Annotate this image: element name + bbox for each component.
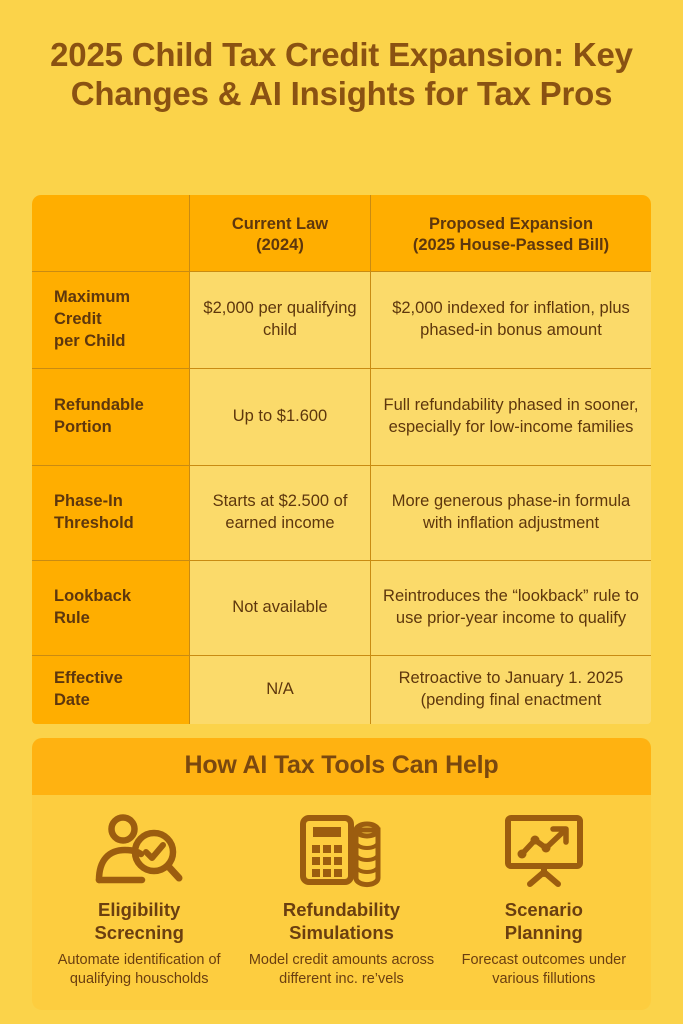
row-label-maximum-credit: Maximum Credit per Child	[32, 272, 190, 368]
cell-proposed-maximum-credit: $2,000 indexed for inflation, plus phase…	[371, 272, 651, 368]
cell-proposed-lookback-rule: Reintroduces the “lookback” rule to use …	[371, 561, 651, 655]
comparison-table: Current Law (2024) Proposed Expansion (2…	[32, 195, 651, 724]
row-label-line3: per Child	[54, 331, 130, 353]
table-row: Effective Date N/A Retroactive to Januar…	[32, 656, 651, 724]
row-label-phase-in-threshold: Phase-In Threshold	[32, 466, 190, 560]
row-label-line1: Effective	[54, 668, 123, 690]
presentation-chart-icon	[449, 813, 639, 889]
header-cell-current-law: Current Law (2024)	[190, 195, 371, 271]
ai-feature-title-line2: Screcning	[44, 922, 234, 945]
ai-feature-refundability-simulations: Refundability Simulations Model credit a…	[240, 813, 442, 988]
row-label-line1: Phase-In	[54, 491, 134, 513]
ai-feature-title-line2: Simulations	[246, 922, 436, 945]
ai-feature-title: Eligibility Screcning	[44, 899, 234, 944]
cell-proposed-phase-in-threshold: More generous phase-in formula with infl…	[371, 466, 651, 560]
ai-feature-title-line1: Refundability	[246, 899, 436, 922]
ai-tools-heading: How AI Tax Tools Can Help	[32, 738, 651, 795]
ai-feature-description: Forecast outcomes under various fillutio…	[449, 951, 639, 988]
ai-tools-body: Eligibility Screcning Automate identific…	[32, 795, 651, 1010]
cell-current-maximum-credit: $2,000 per qualifying child	[190, 272, 371, 368]
calculator-coins-icon	[246, 813, 436, 889]
row-label-refundable-portion: Refundable Portion	[32, 369, 190, 465]
header-current-line1: Current Law	[232, 214, 328, 235]
row-label-line1: Refundable	[54, 395, 144, 417]
ai-feature-scenario-planning: Scenario Planning Forecast outcomes unde…	[443, 813, 645, 988]
row-label-line2: Portion	[54, 417, 144, 439]
ai-feature-description: Model credit amounts across different in…	[246, 951, 436, 988]
table-row: Phase-In Threshold Starts at $2.500 of e…	[32, 466, 651, 561]
cell-current-refundable-portion: Up to $1.600	[190, 369, 371, 465]
row-label-effective-date: Effective Date	[32, 656, 190, 724]
table-header-row: Current Law (2024) Proposed Expansion (2…	[32, 195, 651, 272]
row-label-line1: Maximum	[54, 287, 130, 309]
ai-feature-description: Automate identification of qualifying ho…	[44, 951, 234, 988]
ai-feature-title-line2: Planning	[449, 922, 639, 945]
row-label-line2: Rule	[54, 608, 131, 630]
ai-feature-title: Scenario Planning	[449, 899, 639, 944]
page-title: 2025 Child Tax Credit Expansion: Key Cha…	[32, 0, 652, 114]
cell-proposed-refundable-portion: Full refundability phased in sooner, esp…	[371, 369, 651, 465]
header-cell-proposed-expansion: Proposed Expansion (2025 House-Passed Bi…	[371, 195, 651, 271]
table-row: Refundable Portion Up to $1.600 Full ref…	[32, 369, 651, 466]
header-proposed-line1: Proposed Expansion	[413, 214, 609, 235]
header-current-line2: (2024)	[232, 235, 328, 256]
cell-proposed-effective-date: Retroactive to January 1. 2025 (pending …	[371, 656, 651, 724]
row-label-line1: Lookback	[54, 586, 131, 608]
row-label-line2: Threshold	[54, 513, 134, 535]
person-search-check-icon	[44, 813, 234, 889]
table-row: Maximum Credit per Child $2,000 per qual…	[32, 272, 651, 369]
ai-feature-title-line1: Scenario	[449, 899, 639, 922]
header-cell-blank	[32, 195, 190, 271]
ai-feature-eligibility-screening: Eligibility Screcning Automate identific…	[38, 813, 240, 988]
cell-current-effective-date: N/A	[190, 656, 371, 724]
row-label-line2: Credit	[54, 309, 130, 331]
ai-feature-title-line1: Eligibility	[44, 899, 234, 922]
table-row: Lookback Rule Not available Reintroduces…	[32, 561, 651, 656]
row-label-line2: Date	[54, 690, 123, 712]
row-label-lookback-rule: Lookback Rule	[32, 561, 190, 655]
header-proposed-line2: (2025 House-Passed Bill)	[413, 235, 609, 256]
ai-tools-card: How AI Tax Tools Can Help Eligibility Sc…	[32, 738, 651, 1010]
cell-current-phase-in-threshold: Starts at $2.500 of earned income	[190, 466, 371, 560]
ai-feature-title: Refundability Simulations	[246, 899, 436, 944]
cell-current-lookback-rule: Not available	[190, 561, 371, 655]
